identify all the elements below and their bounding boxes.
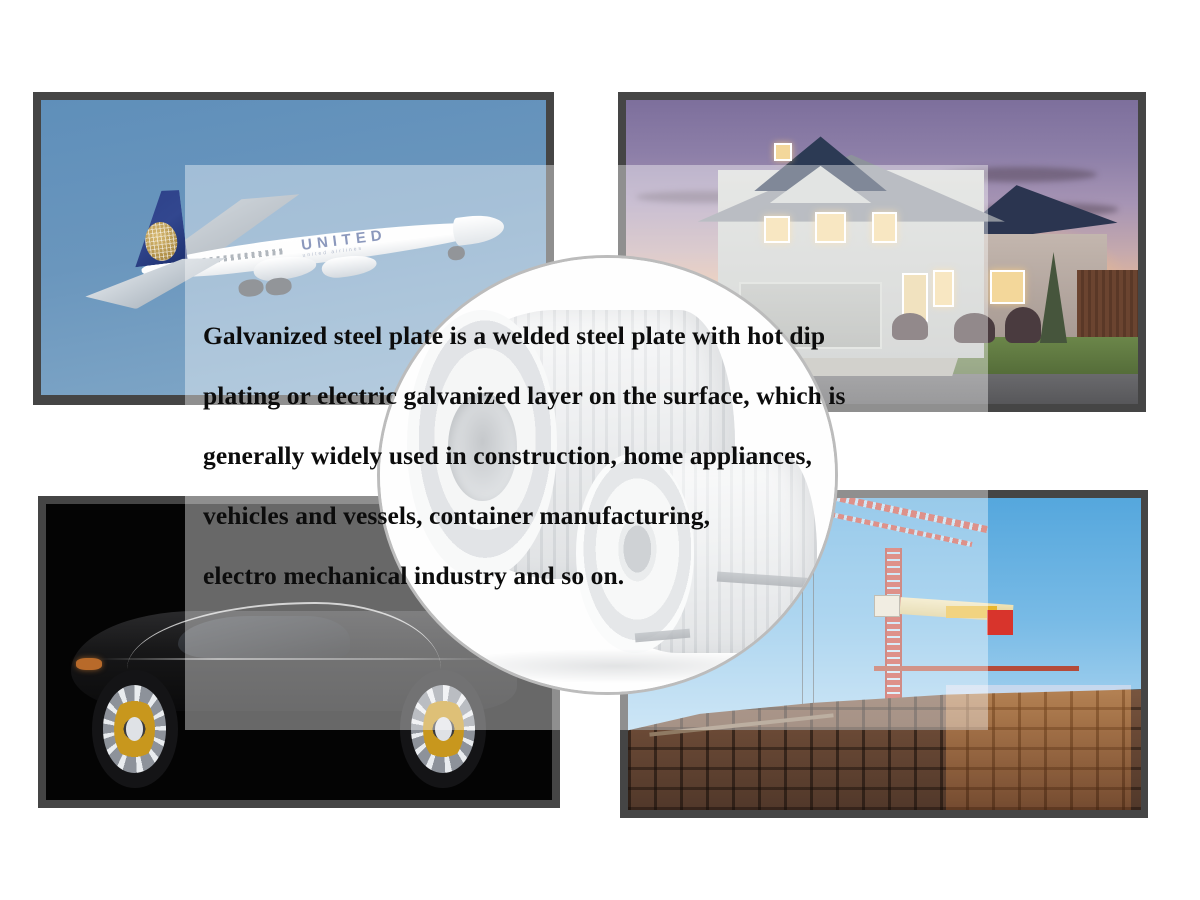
window [872,212,898,242]
description-line-3: generally widely used in construction, h… [203,426,993,486]
airplane-nose [452,211,506,246]
airplane-landing-gear-main-left [238,277,265,297]
description-line-4: vehicles and vessels, container manufact… [203,486,993,546]
description-line-1: Galvanized steel plate is a welded steel… [203,306,993,366]
car-front-wheel [92,670,178,788]
window [990,270,1026,303]
description-line-5: electro mechanical industry and so on. [203,546,993,606]
description-text-block: Galvanized steel plate is a welded steel… [203,306,993,606]
building-safety-rail [874,666,1079,671]
building-sunlight-glow [946,685,1131,810]
window [764,216,790,243]
car-headlight [76,658,101,670]
slide-canvas: UNITED united airlines [0,0,1200,900]
wooden-fence [1077,270,1138,337]
shrub [1005,307,1041,343]
crane-counterweight-red [987,610,1013,635]
wheel-hub [435,717,452,741]
description-line-2: plating or electric galvanized layer on … [203,366,993,426]
wheel-hub [126,717,143,741]
window [815,212,846,242]
dormer-window [774,143,792,161]
coil-ground-shadow [435,649,799,684]
window [933,270,953,306]
airplane-landing-gear-main-right [265,277,292,297]
